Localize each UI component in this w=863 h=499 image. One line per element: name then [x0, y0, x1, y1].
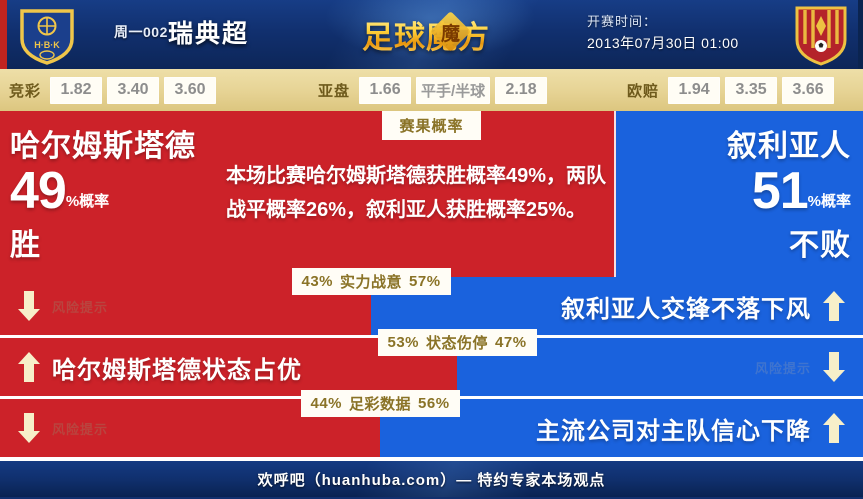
- row-left-percent: 44%: [311, 395, 343, 412]
- brand-cube-char: 魔: [436, 18, 465, 47]
- row-label: 43% 实力战意 57%: [292, 268, 451, 295]
- odds-value-yapan-home[interactable]: 1.66: [359, 77, 411, 104]
- home-percent-suffix: %概率: [66, 193, 109, 210]
- row-left-percent: 53%: [388, 334, 420, 351]
- arrow-up-icon: [823, 413, 845, 443]
- row-left-text: 哈尔姆斯塔德状态占优: [52, 350, 302, 385]
- row-right-percent: 47%: [495, 334, 527, 351]
- footer: 欢呼吧（huanhuba.com）— 特约专家本场观点: [0, 461, 863, 497]
- comparison-rows: 43% 实力战意 57% 风险提示 叙利亚人交锋不落下风 53% 状态伤停 47…: [0, 277, 863, 461]
- brand-logo-text: 足球魔方: [362, 12, 490, 57]
- match-number: 周一002: [114, 22, 168, 42]
- comparison-row: 44% 足彩数据 56% 风险提示 主流公司对主队信心下降: [0, 399, 863, 457]
- svg-text:H·B·K: H·B·K: [34, 40, 60, 50]
- row-label-text: 足彩数据: [349, 393, 411, 414]
- header-right-accent: [858, 0, 863, 69]
- odds-group-jingcai: 竞彩 1.82 3.40 3.60: [0, 77, 221, 104]
- kickoff-label: 开赛时间：: [587, 12, 777, 32]
- section-badge-result-probability: 赛果概率: [382, 111, 481, 140]
- row-left-percent: 43%: [302, 273, 334, 290]
- match-preview-infographic: H·B·K 周一002 瑞典超 足球魔方 魔 开赛时间： 2013年07月30日…: [0, 0, 863, 499]
- row-right-text: 叙利亚人交锋不落下风: [561, 289, 811, 324]
- row-left-content: 风险提示: [18, 399, 108, 457]
- row-right-text: 风险提示: [755, 358, 811, 377]
- away-team-logo: [793, 4, 849, 66]
- home-verdict: 胜: [10, 228, 225, 264]
- home-probability-block: 哈尔姆斯塔德 49%概率 胜: [10, 129, 225, 264]
- odds-value-jingcai-home[interactable]: 1.82: [50, 77, 102, 104]
- odds-value-yapan-away[interactable]: 2.18: [495, 77, 547, 104]
- header: H·B·K 周一002 瑞典超 足球魔方 魔 开赛时间： 2013年07月30日…: [0, 0, 863, 69]
- away-probability-block: 叙利亚人 51%概率 不败: [636, 129, 851, 264]
- row-left-text: 风险提示: [52, 297, 108, 316]
- odds-value-jingcai-draw[interactable]: 3.40: [107, 77, 159, 104]
- odds-value-oupei-draw[interactable]: 3.35: [725, 77, 777, 104]
- arrow-down-icon: [18, 291, 40, 321]
- row-label: 44% 足彩数据 56%: [301, 390, 460, 417]
- arrow-up-icon: [18, 352, 40, 382]
- home-percent-value: 49: [10, 162, 66, 220]
- odds-bar: 竞彩 1.82 3.40 3.60 亚盘 1.66 平手/半球 2.18 欧赔 …: [0, 69, 863, 111]
- odds-label-yapan: 亚盘: [309, 80, 359, 101]
- row-right-content: 风险提示: [755, 338, 845, 396]
- row-left-content: 哈尔姆斯塔德状态占优: [18, 338, 302, 396]
- comparison-row: 43% 实力战意 57% 风险提示 叙利亚人交锋不落下风: [0, 277, 863, 335]
- away-percent-value: 51: [752, 162, 808, 220]
- kickoff-time: 2013年07月30日 01:00: [587, 32, 777, 54]
- home-percent-line: 49%概率: [10, 165, 225, 228]
- row-left-content: 风险提示: [18, 277, 108, 335]
- odds-value-yapan-handicap[interactable]: 平手/半球: [416, 77, 490, 104]
- comparison-row: 53% 状态伤停 47% 哈尔姆斯塔德状态占优 风险提示: [0, 338, 863, 396]
- row-label: 53% 状态伤停 47%: [378, 329, 537, 356]
- league-name: 瑞典超: [168, 14, 249, 50]
- row-label-text: 实力战意: [340, 271, 402, 292]
- odds-value-jingcai-away[interactable]: 3.60: [164, 77, 216, 104]
- row-label-text: 状态伤停: [426, 332, 488, 353]
- odds-group-yapan: 亚盘 1.66 平手/半球 2.18: [309, 77, 552, 104]
- arrow-down-icon: [823, 352, 845, 382]
- odds-label-jingcai: 竞彩: [0, 80, 50, 101]
- brand-logo: 足球魔方 魔: [352, 6, 500, 62]
- probability-description: 本场比赛哈尔姆斯塔德获胜概率49%，两队战平概率26%，叙利亚人获胜概率25%。: [226, 159, 626, 227]
- odds-value-oupei-home[interactable]: 1.94: [668, 77, 720, 104]
- kickoff-info: 开赛时间： 2013年07月30日 01:00: [587, 12, 777, 54]
- footer-text: 欢呼吧（huanhuba.com）— 特约专家本场观点: [258, 469, 606, 490]
- odds-label-oupei: 欧赔: [618, 80, 668, 101]
- home-team-name: 哈尔姆斯塔德: [10, 129, 225, 165]
- arrow-up-icon: [823, 291, 845, 321]
- away-team-name: 叙利亚人: [636, 129, 851, 165]
- home-team-logo: H·B·K: [16, 5, 78, 65]
- result-probability-panel: 赛果概率 哈尔姆斯塔德 49%概率 胜 本场比赛哈尔姆斯塔德获胜概率49%，两队…: [0, 111, 863, 277]
- row-right-percent: 57%: [409, 273, 441, 290]
- row-right-content: 叙利亚人交锋不落下风: [561, 277, 845, 335]
- away-percent-line: 51%概率: [636, 165, 851, 228]
- row-right-content: 主流公司对主队信心下降: [536, 399, 845, 457]
- row-left-text: 风险提示: [52, 419, 108, 438]
- arrow-down-icon: [18, 413, 40, 443]
- row-right-percent: 56%: [418, 395, 450, 412]
- away-verdict: 不败: [636, 228, 851, 264]
- odds-group-oupei: 欧赔 1.94 3.35 3.66: [618, 77, 839, 104]
- odds-value-oupei-away[interactable]: 3.66: [782, 77, 834, 104]
- away-percent-suffix: %概率: [808, 193, 851, 210]
- header-left-accent: [0, 0, 7, 69]
- row-right-text: 主流公司对主队信心下降: [536, 411, 811, 446]
